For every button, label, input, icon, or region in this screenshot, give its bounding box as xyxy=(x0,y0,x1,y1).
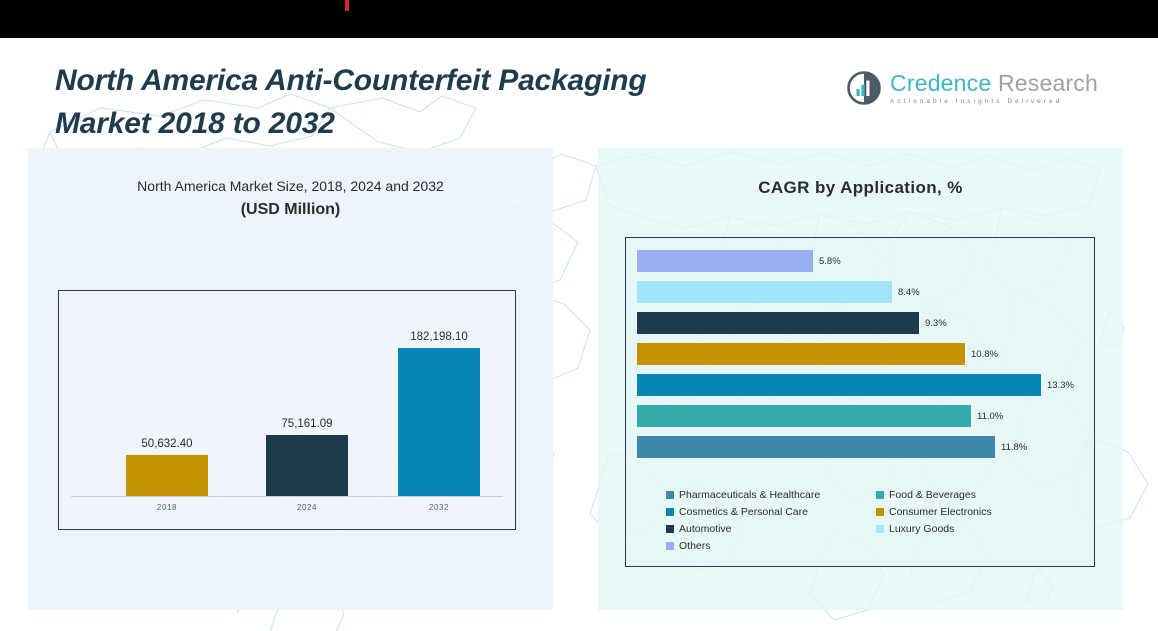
right-panel: CAGR by Application, % 5.8%8.4%9.3%10.8%… xyxy=(598,148,1123,610)
logo-word-credence: Credence xyxy=(890,70,991,96)
cagr-plot-area: 5.8%8.4%9.3%10.8%13.3%11.0%11.8% xyxy=(637,250,1086,468)
column-category-label: 2032 xyxy=(379,503,499,512)
cagr-value-label: 11.0% xyxy=(977,411,1003,422)
legend-swatch xyxy=(666,508,674,516)
legend-swatch xyxy=(876,525,884,533)
cagr-value-label: 10.8% xyxy=(971,349,998,360)
cagr-value-label: 8.4% xyxy=(898,287,920,298)
credence-research-logo: Credence Research Actionable Insights De… xyxy=(847,66,1098,110)
legend-item[interactable]: Pharmaceuticals & Healthcare xyxy=(666,486,876,503)
infographic-page: North America Anti-Counterfeit Packaging… xyxy=(0,0,1158,631)
column-bar[interactable] xyxy=(398,348,480,496)
cagr-bar-row: 13.3% xyxy=(637,374,1086,396)
column-bar-group: 50,632.40 xyxy=(107,291,227,496)
right-chart-title: CAGR by Application, % xyxy=(598,178,1123,198)
legend-swatch xyxy=(876,508,884,516)
column-bar-group: 75,161.09 xyxy=(247,291,367,496)
cagr-bar-row: 11.0% xyxy=(637,405,1086,427)
logo-text: Credence Research Actionable Insights De… xyxy=(890,71,1098,105)
cagr-bar[interactable] xyxy=(637,281,892,303)
cagr-bar[interactable] xyxy=(637,436,995,458)
page-title: North America Anti-Counterfeit Packaging… xyxy=(55,60,855,145)
header: North America Anti-Counterfeit Packaging… xyxy=(0,38,1158,148)
cagr-value-label: 11.8% xyxy=(1001,442,1027,453)
left-panel: North America Market Size, 2018, 2024 an… xyxy=(28,148,553,610)
page-title-line2: Market 2018 to 2032 xyxy=(55,103,855,146)
cagr-bar-row: 10.8% xyxy=(637,343,1086,365)
left-chart-title-line2: (USD Million) xyxy=(28,201,553,219)
logo-mark-svg xyxy=(847,71,881,105)
cagr-legend: Pharmaceuticals & HealthcareFood & Bever… xyxy=(666,486,1086,554)
legend-label: Automotive xyxy=(679,523,732,535)
cagr-bar[interactable] xyxy=(637,250,813,272)
legend-label: Others xyxy=(679,540,711,552)
legend-item[interactable]: Automotive xyxy=(666,520,876,537)
column-bar-group: 182,198.10 xyxy=(379,291,499,496)
legend-label: Food & Beverages xyxy=(889,489,976,501)
cagr-bar[interactable] xyxy=(637,312,919,334)
column-category-label: 2018 xyxy=(107,503,227,512)
cagr-value-label: 13.3% xyxy=(1047,380,1074,391)
legend-label: Cosmetics & Personal Care xyxy=(679,506,808,518)
column-value-label: 50,632.40 xyxy=(141,438,192,450)
logo-bar-chart-icon xyxy=(847,71,881,105)
cagr-bar[interactable] xyxy=(637,405,971,427)
cagr-value-label: 5.8% xyxy=(819,256,841,267)
legend-item[interactable]: Consumer Electronics xyxy=(876,503,1086,520)
cagr-bar[interactable] xyxy=(637,343,965,365)
legend-label: Pharmaceuticals & Healthcare xyxy=(679,489,820,501)
legend-item[interactable]: Cosmetics & Personal Care xyxy=(666,503,876,520)
cagr-bar-row: 11.8% xyxy=(637,436,1086,458)
legend-swatch xyxy=(876,491,884,499)
column-bar[interactable] xyxy=(126,455,208,496)
cagr-bar-row: 8.4% xyxy=(637,281,1086,303)
cagr-value-label: 9.3% xyxy=(925,318,947,329)
column-bar[interactable] xyxy=(266,435,348,496)
legend-item[interactable]: Food & Beverages xyxy=(876,486,1086,503)
legend-swatch xyxy=(666,491,674,499)
top-black-bar xyxy=(0,0,1158,38)
market-size-column-chart: 50,632.4075,161.09182,198.10 20182024203… xyxy=(58,290,516,530)
red-cursor-marker xyxy=(345,0,349,11)
column-chart-plot-area: 50,632.4075,161.09182,198.10 xyxy=(59,291,515,496)
legend-item[interactable]: Luxury Goods xyxy=(876,520,1086,537)
logo-company-name: Credence Research xyxy=(890,71,1098,95)
legend-swatch xyxy=(666,542,674,550)
cagr-bar-row: 5.8% xyxy=(637,250,1086,272)
column-chart-tick-labels: 201820242032 xyxy=(59,499,515,523)
cagr-bar-chart: 5.8%8.4%9.3%10.8%13.3%11.0%11.8% Pharmac… xyxy=(625,237,1095,567)
legend-item[interactable]: Others xyxy=(666,537,876,554)
column-value-label: 75,161.09 xyxy=(281,418,332,430)
cagr-bar[interactable] xyxy=(637,374,1041,396)
logo-word-research: Research xyxy=(991,70,1098,96)
left-chart-title-line1: North America Market Size, 2018, 2024 an… xyxy=(28,178,553,194)
column-category-label: 2024 xyxy=(247,503,367,512)
column-chart-axis-line xyxy=(71,496,503,497)
column-value-label: 182,198.10 xyxy=(410,331,468,343)
logo-tagline: Actionable Insights Delivered xyxy=(890,98,1098,105)
legend-swatch xyxy=(666,525,674,533)
page-title-line1: North America Anti-Counterfeit Packaging xyxy=(55,64,647,97)
legend-label: Luxury Goods xyxy=(889,523,954,535)
cagr-bar-row: 9.3% xyxy=(637,312,1086,334)
legend-label: Consumer Electronics xyxy=(889,506,992,518)
